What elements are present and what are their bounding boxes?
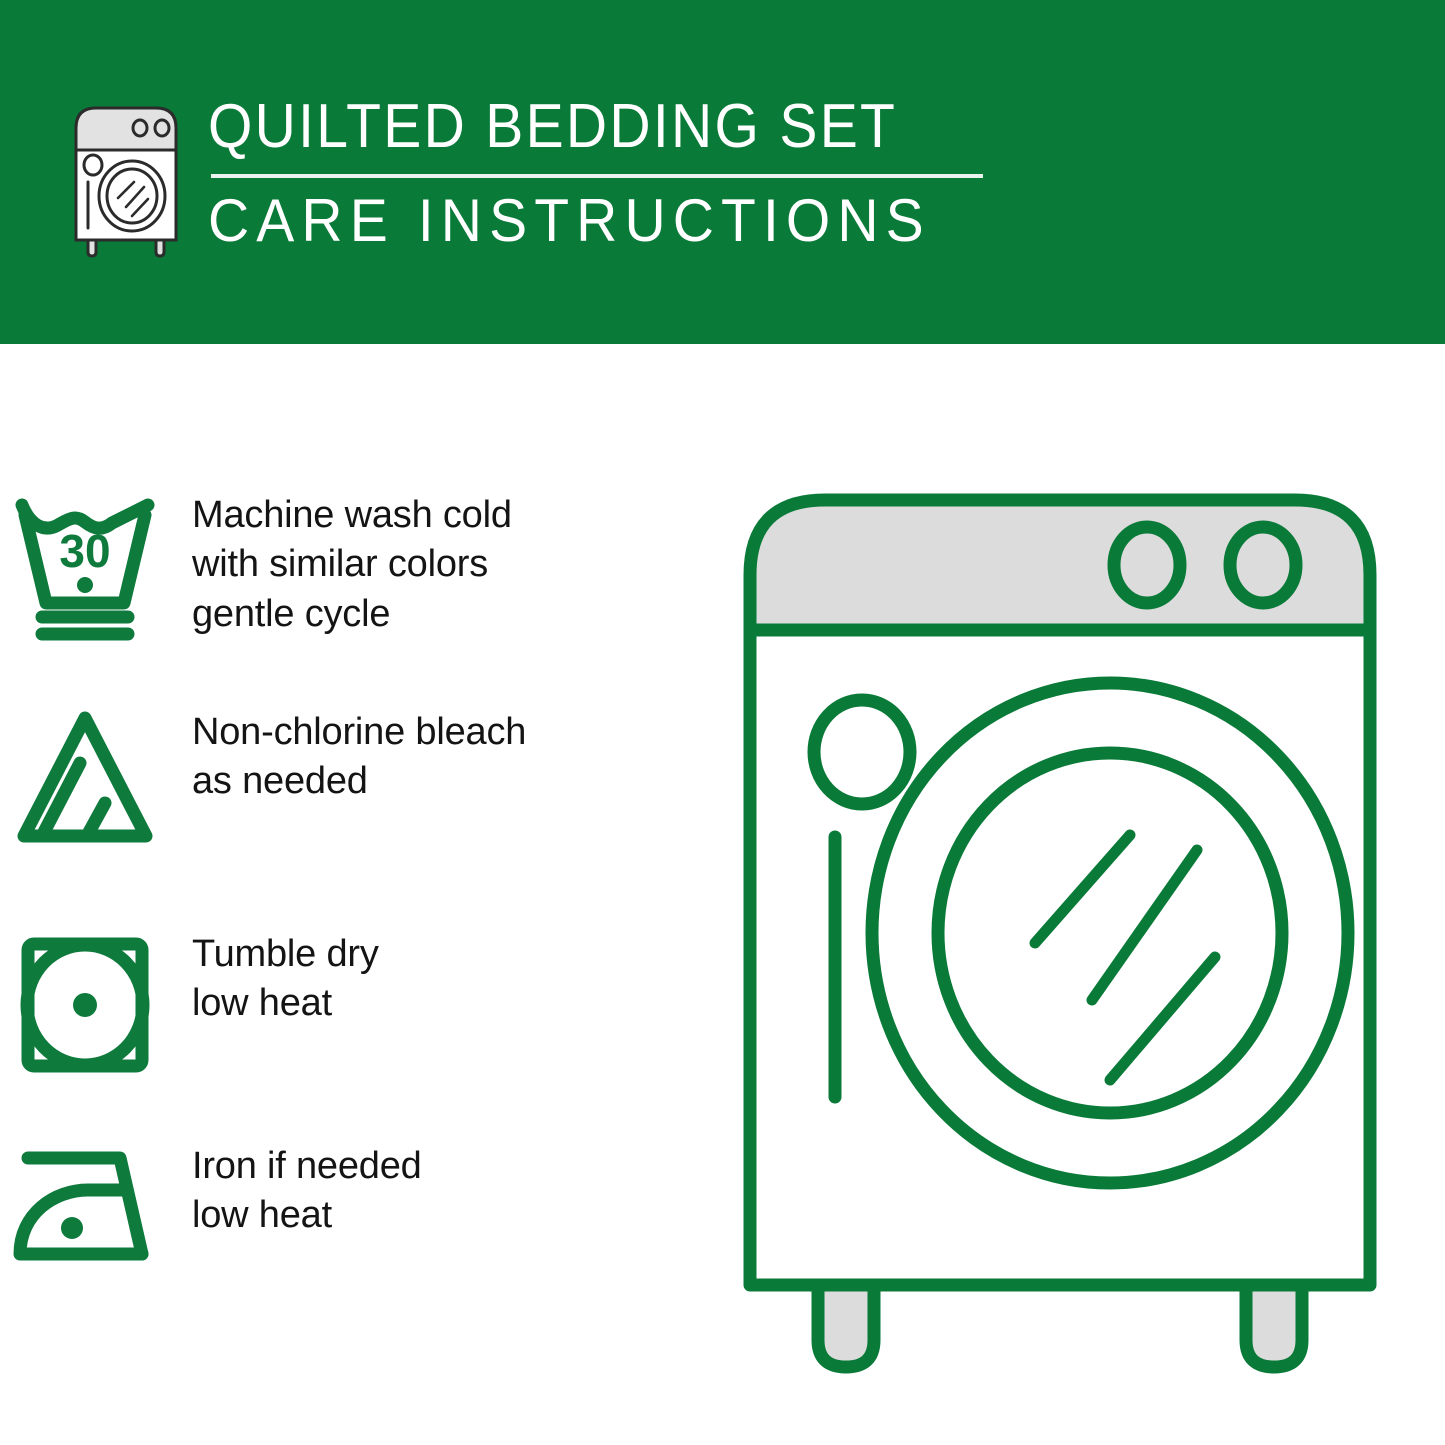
header-divider xyxy=(211,174,983,178)
care-item-tumble-dry: Tumble dry low heat xyxy=(0,930,379,1080)
care-item-label: Iron if needed low heat xyxy=(170,1142,422,1241)
care-symbol-list: 30 Machine wash cold with similar colors… xyxy=(0,344,700,1445)
iron-low-heat-icon xyxy=(0,1142,170,1272)
care-item-label: Machine wash cold with similar colors ge… xyxy=(170,491,512,639)
page-subtitle: CARE INSTRUCTIONS xyxy=(208,191,944,251)
header-banner: QUILTED BEDDING SET CARE INSTRUCTIONS xyxy=(0,0,1445,344)
care-item-label: Non-chlorine bleach as needed xyxy=(170,708,526,807)
page-title: QUILTED BEDDING SET xyxy=(208,96,921,158)
care-item-bleach: Non-chlorine bleach as needed xyxy=(0,708,526,848)
care-item-label: Tumble dry low heat xyxy=(170,930,379,1029)
svg-text:30: 30 xyxy=(59,525,110,577)
leg-right xyxy=(1246,1285,1302,1367)
tumble-dry-low-icon xyxy=(0,930,170,1080)
control-panel xyxy=(750,500,1370,630)
non-chlorine-bleach-triangle-icon xyxy=(0,708,170,848)
leg-left xyxy=(818,1285,874,1367)
washing-machine-icon xyxy=(62,92,190,260)
header-content: QUILTED BEDDING SET CARE INSTRUCTIONS xyxy=(62,92,983,260)
care-instructions-page: QUILTED BEDDING SET CARE INSTRUCTIONS xyxy=(0,0,1445,1445)
care-item-iron: Iron if needed low heat xyxy=(0,1142,422,1272)
header-text-block: QUILTED BEDDING SET CARE INSTRUCTIONS xyxy=(208,92,983,251)
care-item-machine-wash: 30 Machine wash cold with similar colors… xyxy=(0,491,512,643)
wash-tub-30-icon: 30 xyxy=(0,491,170,643)
front-load-washing-machine-illustration xyxy=(710,455,1410,1380)
